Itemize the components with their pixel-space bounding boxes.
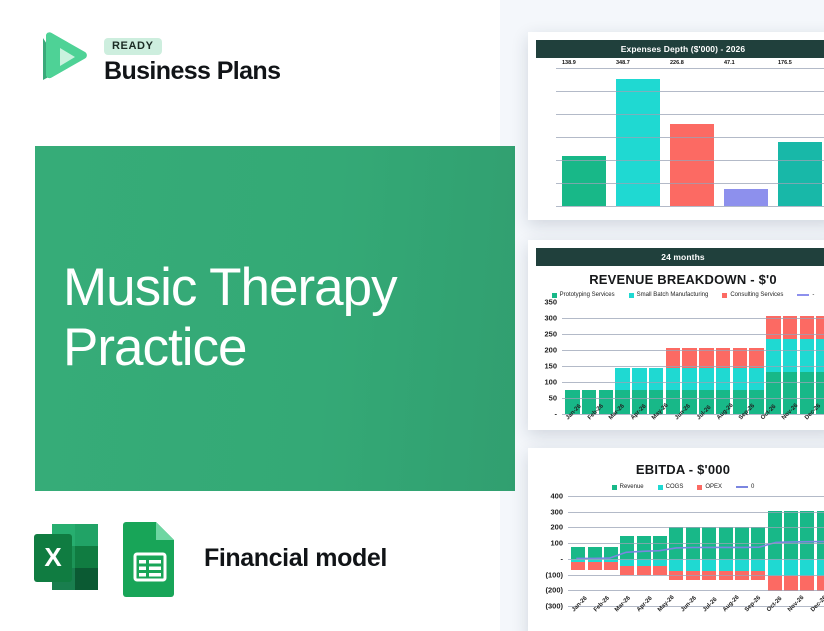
legend-item: COGS [658,484,684,490]
bar-segment [615,368,629,390]
plot-area-revenue-breakdown: 35030025020015010050- [562,302,824,414]
bar-segment [783,316,797,339]
chart-card-expenses-depth: Expenses Depth ($'000) - 2026 138.9348.7… [528,32,824,220]
bar-segment [800,339,814,372]
brand-name: Business Plans [104,58,280,84]
legend-label: Prototyping Services [560,292,615,298]
play-triangle-logo-icon [30,28,92,90]
gridline [556,114,824,115]
bar-segment [666,368,680,390]
legend-label: - [812,292,814,298]
legend-item: Revenue [612,484,644,490]
brand-lockup: READY Business Plans [30,28,280,90]
gridline [556,137,824,138]
page-title: Music Therapy Practice [63,258,493,379]
legend-label: Revenue [620,484,644,490]
bar-segment [733,348,747,367]
y-tick-label: (100) [545,570,563,579]
gridline [556,68,824,69]
microsoft-excel-icon: X [30,516,102,600]
svg-text:X: X [44,542,62,572]
gridline [556,91,824,92]
y-tick-label: 100 [544,378,557,387]
footer-row: X Financial model [30,516,387,600]
legend-swatch [658,485,663,490]
bar: 348.7 [616,79,660,206]
y-tick-label: 250 [544,330,557,339]
bar-segment [666,348,680,367]
y-tick-label: 150 [544,362,557,371]
brand-text-block: READY Business Plans [104,34,280,85]
gridline [568,496,824,497]
chart-card-revenue-breakdown: 24 months REVENUE BREAKDOWN - $'0 Protot… [528,240,824,430]
legend-swatch [722,293,727,298]
bar-segment [733,368,747,390]
y-tick-label: 300 [544,314,557,323]
gridline [568,543,824,544]
x-axis-revenue-breakdown: Jan-26Feb-26Mar-26Apr-26May-26Jun-26Jul-… [562,414,824,430]
bar-value-label: 47.1 [724,60,735,66]
legend-ebitda: RevenueCOGSOPEX0 [528,484,824,490]
legend-label: 0 [751,484,754,490]
gridline [556,160,824,161]
y-tick-label: 300 [550,507,563,516]
y-tick-label: 200 [544,346,557,355]
y-tick-label: - [561,554,564,563]
y-tick-label: 200 [550,523,563,532]
plot-area-ebitda: 400300200100-(100)(200)(300) [568,496,824,606]
google-sheets-icon [118,516,182,600]
bar-segment [682,348,696,367]
legend-item: 0 [736,484,754,490]
bar-segment [749,368,763,390]
bar-segment [766,316,780,339]
legend-item: Small Batch Manufacturing [629,292,709,298]
legend-swatch [697,485,702,490]
legend-swatch [736,486,748,488]
legend-label: Small Batch Manufacturing [637,292,709,298]
gridline [568,590,824,591]
bar: 176.5 [778,142,822,206]
bar-segment [800,316,814,339]
bar-value-label: 138.9 [562,60,576,66]
y-tick-label: 350 [544,298,557,307]
bar: 226.8 [670,124,714,206]
gridline [562,366,824,367]
legend-label: COGS [666,484,684,490]
poster-canvas: READY Business Plans Music Therapy Pract… [0,0,824,631]
chart-title-revenue-breakdown: REVENUE BREAKDOWN - $'0 [528,272,824,287]
bar-segment [816,316,824,339]
y-tick-label: - [555,410,558,419]
bar-segment [716,368,730,390]
bar-value-label: 348.7 [616,60,630,66]
bar-segment [783,339,797,372]
legend-label: Consulting Services [730,292,783,298]
bar-value-label: 176.5 [778,60,792,66]
gridline [556,206,824,207]
legend-swatch [797,294,809,296]
y-tick-label: 50 [549,394,557,403]
legend-item: OPEX [697,484,722,490]
y-tick-label: 100 [550,539,563,548]
gridline [568,575,824,576]
gridline [562,334,824,335]
gridline [556,183,824,184]
gridline [568,527,824,528]
bar-segment [816,339,824,372]
bar: 138.9 [562,156,606,206]
chart-title-ebitda: EBITDA - $'000 [528,462,824,477]
legend-revenue-breakdown: Prototyping ServicesSmall Batch Manufact… [528,292,824,298]
bar-value-label: 226.8 [670,60,684,66]
chart-caption-24-months: 24 months [536,248,824,266]
gridline [568,512,824,513]
bar-segment [682,368,696,390]
plot-area-expenses-depth: 138.9348.7226.847.1176.5 [556,68,824,206]
legend-item: Prototyping Services [552,292,615,298]
legend-item: - [797,292,814,298]
bar-segment [749,348,763,367]
gridline [562,398,824,399]
bar-segment [699,348,713,367]
bar-segment [649,368,663,390]
bar-segment [699,368,713,390]
chart-card-ebitda: EBITDA - $'000 RevenueCOGSOPEX0 40030020… [528,448,824,631]
legend-item: Consulting Services [722,292,783,298]
bar: 47.1 [724,189,768,206]
chart-title-expenses-depth: Expenses Depth ($'000) - 2026 [536,40,824,58]
legend-label: OPEX [705,484,722,490]
y-tick-label: (200) [545,586,563,595]
gridline [562,350,824,351]
gridline [568,559,824,560]
legend-swatch [612,485,617,490]
legend-swatch [629,293,634,298]
gridline [562,382,824,383]
ready-badge: READY [104,38,162,56]
y-tick-label: 400 [550,492,563,501]
bar-segment [716,348,730,367]
y-tick-label: (300) [545,602,563,611]
left-panel: READY Business Plans Music Therapy Pract… [0,0,500,631]
bar-segment [766,339,780,372]
bar-segment [632,368,646,390]
gridline [562,318,824,319]
financial-model-label: Financial model [204,544,387,573]
